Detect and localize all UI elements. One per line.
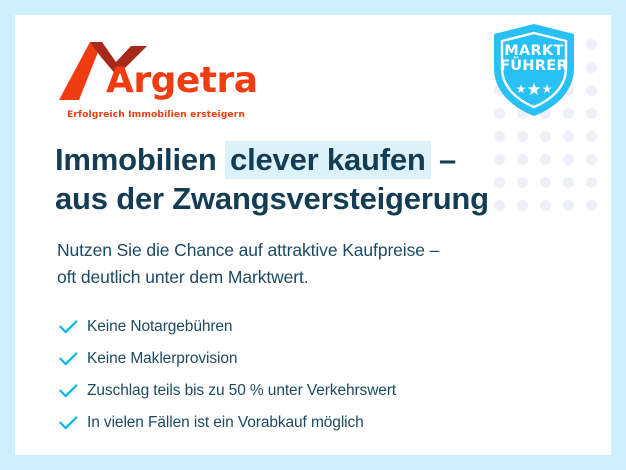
subheading-line-1: Nutzen Sie die Chance auf attraktive Kau… (57, 237, 439, 264)
dot (494, 154, 505, 165)
list-item-label: In vielen Fällen ist ein Vorabkauf mögli… (87, 414, 364, 432)
dot (517, 154, 528, 165)
list-item: Keine Notargebühren (59, 311, 396, 343)
logo-wordmark: Argetra (106, 63, 258, 99)
dot (586, 177, 597, 188)
headline-suffix: – (431, 142, 456, 177)
star-icon-left: ★ (516, 82, 527, 96)
dot (517, 131, 528, 142)
check-icon (59, 320, 87, 334)
dot (563, 200, 574, 211)
dot (563, 154, 574, 165)
badge-text: MARKT FÜHRER (491, 44, 577, 75)
headline-line-1: Immobilien clever kaufen – (55, 140, 489, 179)
dot (517, 177, 528, 188)
list-item-label: Zuschlag teils bis zu 50 % unter Verkehr… (87, 382, 396, 400)
check-icon (59, 352, 87, 366)
page-title: Immobilien clever kaufen – aus der Zwang… (55, 140, 489, 218)
dot (586, 108, 597, 119)
dot (540, 131, 551, 142)
argetra-logo[interactable]: Argetra Erfolgreich Immobilien ersteiger… (57, 40, 257, 122)
headline-highlight: clever kaufen (225, 141, 431, 179)
star-icon-center: ★ (526, 80, 541, 99)
badge-line-1: MARKT (504, 43, 563, 59)
list-item-label: Keine Maklerprovision (87, 350, 237, 368)
list-item: Keine Maklerprovision (59, 343, 396, 375)
dot (494, 131, 505, 142)
list-item: Zuschlag teils bis zu 50 % unter Verkehr… (59, 375, 396, 407)
dot (563, 177, 574, 188)
dot (540, 177, 551, 188)
dot (517, 200, 528, 211)
dot (586, 131, 597, 142)
dot (540, 154, 551, 165)
benefits-list: Keine Notargebühren Keine Maklerprovisio… (59, 311, 396, 439)
dot (586, 200, 597, 211)
subheading-line-2: oft deutlich unter dem Marktwert. (57, 264, 439, 291)
promo-banner: Argetra Erfolgreich Immobilien ersteiger… (0, 0, 626, 470)
subheading: Nutzen Sie die Chance auf attraktive Kau… (57, 237, 439, 292)
logo-tagline: Erfolgreich Immobilien ersteigern (67, 109, 245, 120)
banner-canvas: Argetra Erfolgreich Immobilien ersteiger… (15, 15, 611, 455)
list-item: In vielen Fällen ist ein Vorabkauf mögli… (59, 407, 396, 439)
dot (586, 62, 597, 73)
headline-line-2: aus der Zwangsversteigerung (55, 179, 489, 218)
markt-fuehrer-badge: MARKT FÜHRER ★★★ (491, 22, 577, 118)
dot (586, 39, 597, 50)
dot (586, 154, 597, 165)
check-icon (59, 384, 87, 398)
dot (494, 200, 505, 211)
badge-line-2: FÜHRER (500, 58, 568, 74)
dot (586, 85, 597, 96)
dot (494, 177, 505, 188)
list-item-label: Keine Notargebühren (87, 318, 232, 336)
dot (563, 131, 574, 142)
dot (540, 200, 551, 211)
headline-prefix: Immobilien (55, 142, 225, 177)
badge-stars: ★★★ (491, 81, 577, 98)
check-icon (59, 416, 87, 430)
star-icon-right: ★ (542, 82, 553, 96)
